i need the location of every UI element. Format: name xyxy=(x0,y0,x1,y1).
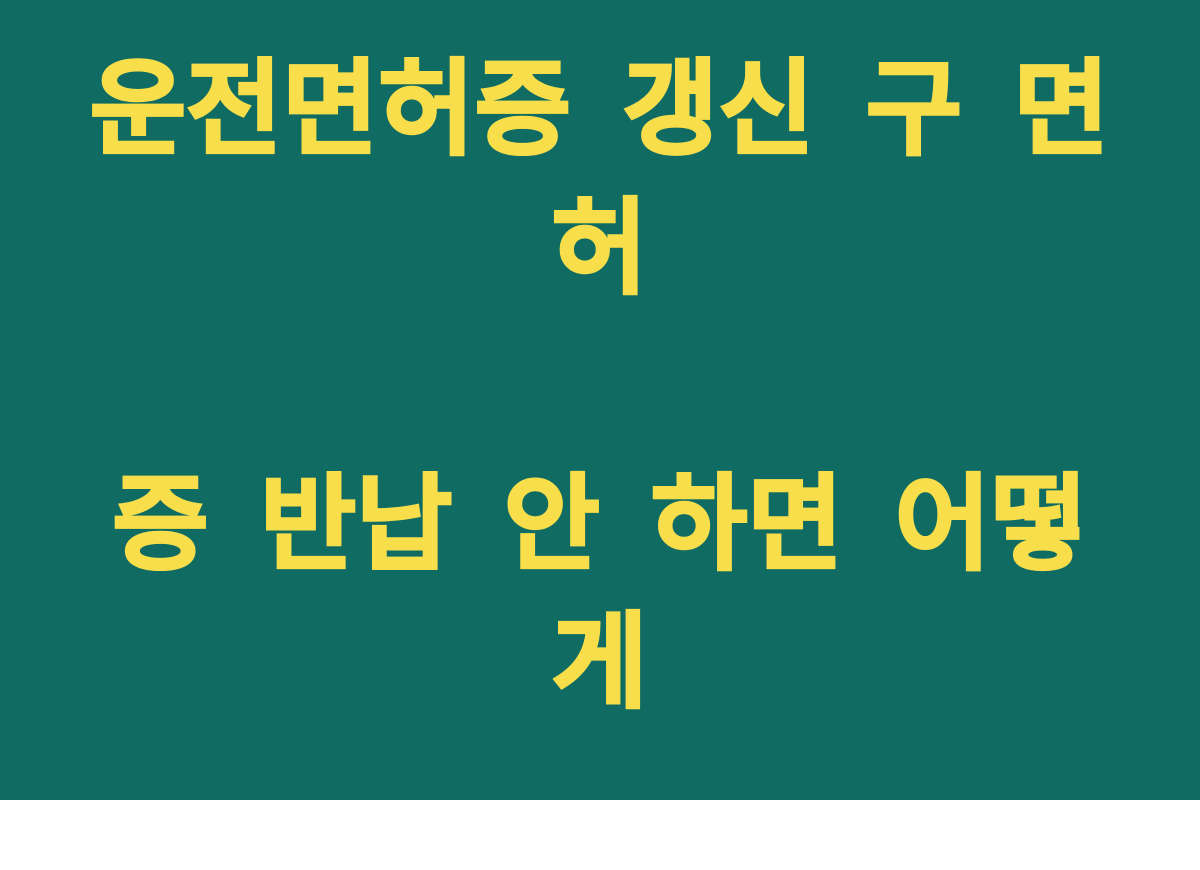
headline-line-2: 증 반납 안 하면 어떻게 xyxy=(70,455,1130,732)
headline-card: 운전면허증 갱신 구 면허 증 반납 안 하면 어떻게 xyxy=(0,0,1200,800)
headline-line-1: 운전면허증 갱신 구 면허 xyxy=(70,40,1130,317)
page-title: 운전면허증 갱신 구 면허 증 반납 안 하면 어떻게 xyxy=(70,0,1130,870)
